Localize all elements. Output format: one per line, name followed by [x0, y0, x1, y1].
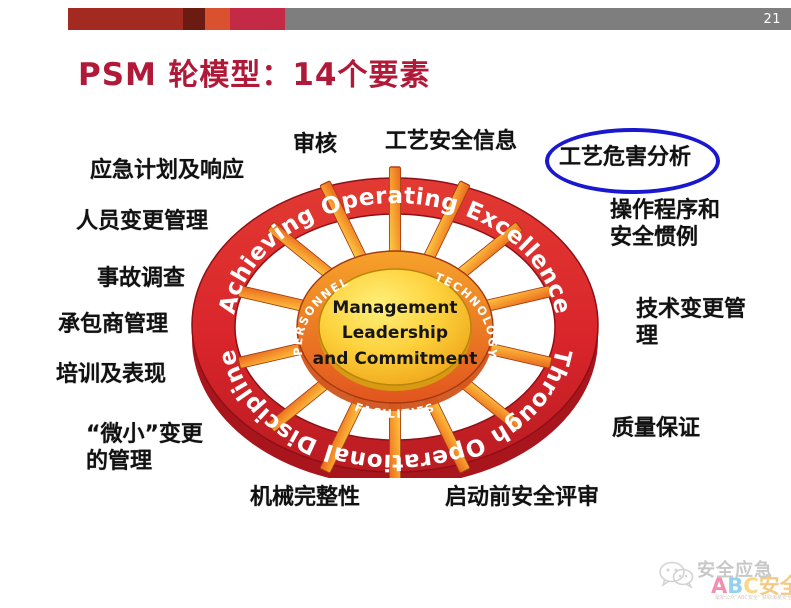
label-quality-assurance: 质量保证 [612, 416, 700, 443]
wechat-icon [659, 560, 695, 588]
label-audit: 审核 [293, 132, 337, 159]
label-emergency-planning-response: 应急计划及响应 [90, 158, 244, 185]
decorative-top-bar [0, 8, 791, 30]
label-pre-startup-safety-review: 启动前安全评审 [445, 485, 599, 512]
topbar-segment-orange-red [205, 8, 230, 30]
topbar-segment-gray [285, 8, 791, 30]
title-tail: 个要素 [338, 58, 431, 93]
hub-line-2: Leadership [342, 323, 448, 343]
hub-line-1: Management [332, 298, 457, 318]
slide-canvas: 21 PSM 轮模型：14个要素 [0, 0, 791, 608]
label-process-safety-info: 工艺安全信息 [385, 129, 517, 156]
label-training-performance: 培训及表现 [56, 362, 166, 389]
label-mechanical-integrity: 机械完整性 [250, 485, 360, 512]
page-number: 21 [741, 8, 781, 30]
page-title: PSM 轮模型：14个要素 [78, 50, 431, 94]
label-incident-investigation: 事故调查 [97, 266, 185, 293]
topbar-segment-dark-red [68, 8, 183, 30]
label-personnel-change-management: 人员变更管理 [76, 209, 208, 236]
title-count: 14 [292, 57, 337, 93]
label-minor-change-management: “微小”变更 的管理 [86, 422, 203, 476]
topbar-segment-crimson [230, 8, 285, 30]
hub-line-3: and Commitment [313, 349, 478, 369]
label-management-of-change: 技术变更管 理 [636, 297, 746, 351]
title-cn: 轮模型： [157, 58, 292, 93]
watermark: 安全应急 ABC安全 最新公众“ABC安全” 获取海量安全资料 [655, 552, 791, 604]
title-latin: PSM [78, 57, 157, 93]
wheel-svg: Management Leadership and Commitment Ach… [185, 163, 605, 478]
topbar-segment-maroon [183, 8, 205, 30]
highlight-ellipse [545, 128, 720, 194]
topbar-lead-spacer [0, 8, 68, 30]
label-contractor-management: 承包商管理 [58, 312, 168, 339]
label-operating-procedures: 操作程序和 安全惯例 [610, 198, 720, 252]
psm-wheel-diagram: Management Leadership and Commitment Ach… [185, 163, 605, 478]
watermark-tagline: 最新公众“ABC安全” 获取海量安全资料 [715, 594, 791, 601]
